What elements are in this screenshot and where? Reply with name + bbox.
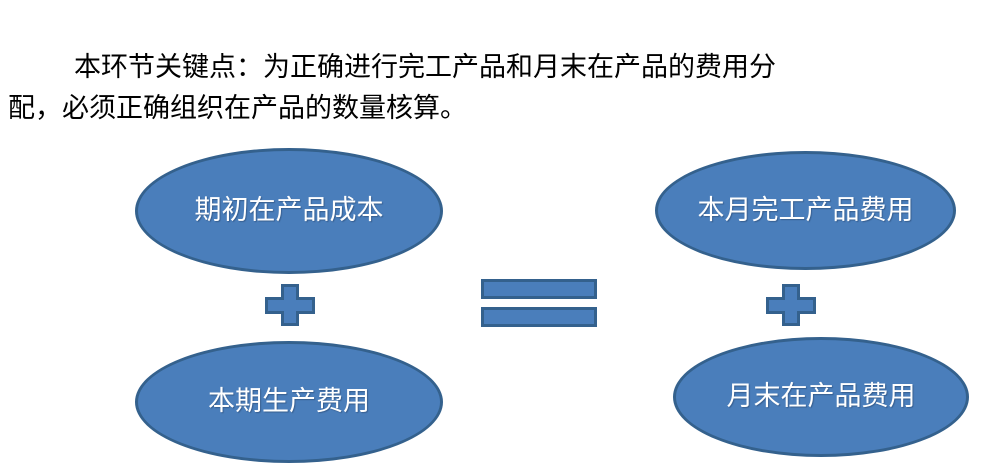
equals-icon [481, 279, 597, 327]
plus-icon-right [766, 284, 816, 326]
plus-icon-left [265, 284, 315, 326]
plus-inner-fill-vertical [284, 287, 296, 323]
plus-inner-fill-vertical [785, 287, 797, 323]
shape-label: 本期生产费用 [159, 384, 419, 420]
shape-label: 期初在产品成本 [177, 193, 400, 229]
slide-canvas: 本环节关键点：为正确进行完工产品和月末在产品的费用分配，必须正确组织在产品的数量… [0, 0, 989, 474]
shape-finished-goods-cost[interactable]: 本月完工产品费用 [655, 151, 956, 270]
page-title: 本环节关键点：为正确进行完工产品和月末在产品的费用分配，必须正确组织在产品的数量… [8, 47, 798, 129]
shape-label: 本月完工产品费用 [696, 193, 914, 229]
equals-top-bar [481, 279, 597, 299]
shape-current-production-cost[interactable]: 本期生产费用 [135, 341, 443, 463]
shape-ending-wip-cost[interactable]: 月末在产品费用 [673, 337, 969, 457]
shape-label: 月末在产品费用 [714, 379, 929, 415]
shape-beginning-wip-cost[interactable]: 期初在产品成本 [135, 148, 443, 274]
equals-bottom-bar [481, 307, 597, 327]
